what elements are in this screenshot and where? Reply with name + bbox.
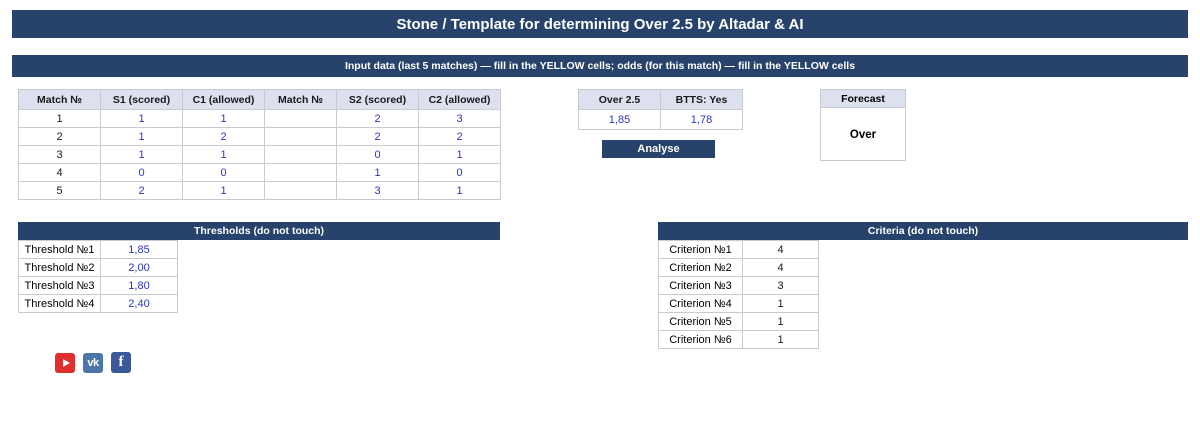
match-number-cell-away[interactable] — [265, 164, 337, 182]
facebook-icon-label: f — [119, 355, 124, 370]
table-row: 1,851,78 — [579, 110, 743, 130]
threshold-label: Threshold №2 — [19, 259, 101, 277]
table-header-row: Match №S1 (scored)C1 (allowed)Match №S2 … — [19, 90, 501, 110]
column-header: Match № — [19, 90, 101, 110]
table-row: 40010 — [19, 164, 501, 182]
criterion-value: 1 — [743, 313, 819, 331]
table-row: Criterion №51 — [659, 313, 819, 331]
match-number-cell: 3 — [19, 146, 101, 164]
editable-yellow-cell[interactable]: 0 — [337, 146, 419, 164]
column-header: Over 2.5 — [579, 90, 661, 110]
column-header: S2 (scored) — [337, 90, 419, 110]
threshold-value: 1,80 — [101, 277, 178, 295]
criterion-label: Criterion №3 — [659, 277, 743, 295]
editable-yellow-cell[interactable]: 1 — [419, 146, 501, 164]
table-row: 31101 — [19, 146, 501, 164]
youtube-icon[interactable] — [55, 353, 75, 373]
editable-yellow-cell[interactable]: 1 — [101, 128, 183, 146]
table-row: 21222 — [19, 128, 501, 146]
vk-icon-label: vk — [87, 357, 98, 369]
thresholds-section-title: Thresholds (do not touch) — [18, 222, 500, 240]
table-row: Criterion №33 — [659, 277, 819, 295]
editable-odds-cell[interactable]: 1,85 — [579, 110, 661, 130]
input-data-table: Match №S1 (scored)C1 (allowed)Match №S2 … — [18, 89, 501, 200]
column-header: BTTS: Yes — [661, 90, 743, 110]
match-number-cell-away[interactable] — [265, 128, 337, 146]
criteria-table: Criterion №14Criterion №24Criterion №33C… — [658, 240, 819, 349]
editable-yellow-cell[interactable]: 1 — [101, 146, 183, 164]
editable-yellow-cell[interactable]: 1 — [419, 182, 501, 200]
column-header: Match № — [265, 90, 337, 110]
editable-yellow-cell[interactable]: 1 — [337, 164, 419, 182]
editable-yellow-cell[interactable]: 2 — [337, 128, 419, 146]
criterion-value: 4 — [743, 241, 819, 259]
threshold-label: Threshold №3 — [19, 277, 101, 295]
editable-yellow-cell[interactable]: 0 — [101, 164, 183, 182]
table-row: Criterion №24 — [659, 259, 819, 277]
editable-yellow-cell[interactable]: 3 — [337, 182, 419, 200]
analyse-button[interactable]: Analyse — [602, 140, 715, 158]
editable-yellow-cell[interactable]: 2 — [101, 182, 183, 200]
match-number-cell: 1 — [19, 110, 101, 128]
instructions-bar: Input data (last 5 matches) — fill in th… — [12, 55, 1188, 77]
match-number-cell-away[interactable] — [265, 146, 337, 164]
match-number-cell: 2 — [19, 128, 101, 146]
forecast-box: Forecast Over — [820, 89, 906, 161]
play-triangle-icon — [63, 359, 70, 367]
vk-icon[interactable]: vk — [83, 353, 103, 373]
criterion-label: Criterion №5 — [659, 313, 743, 331]
editable-yellow-cell[interactable]: 0 — [183, 164, 265, 182]
column-header: C2 (allowed) — [419, 90, 501, 110]
column-header: C1 (allowed) — [183, 90, 265, 110]
criterion-value: 3 — [743, 277, 819, 295]
table-row: 11123 — [19, 110, 501, 128]
match-number-cell-away[interactable] — [265, 110, 337, 128]
editable-yellow-cell[interactable]: 2 — [183, 128, 265, 146]
page-title: Stone / Template for determining Over 2.… — [12, 10, 1188, 38]
forecast-header: Forecast — [821, 90, 905, 108]
threshold-label: Threshold №4 — [19, 295, 101, 313]
editable-odds-cell[interactable]: 1,78 — [661, 110, 743, 130]
criterion-value: 1 — [743, 331, 819, 349]
criterion-label: Criterion №6 — [659, 331, 743, 349]
table-row: 52131 — [19, 182, 501, 200]
threshold-value: 2,40 — [101, 295, 178, 313]
criterion-label: Criterion №4 — [659, 295, 743, 313]
threshold-label: Threshold №1 — [19, 241, 101, 259]
table-row: Threshold №31,80 — [19, 277, 178, 295]
editable-yellow-cell[interactable]: 0 — [419, 164, 501, 182]
criteria-section-title: Criteria (do not touch) — [658, 222, 1188, 240]
table-row: Threshold №42,40 — [19, 295, 178, 313]
thresholds-table: Threshold №11,85Threshold №22,00Threshol… — [18, 240, 178, 313]
table-row: Threshold №11,85 — [19, 241, 178, 259]
column-header: S1 (scored) — [101, 90, 183, 110]
table-row: Criterion №14 — [659, 241, 819, 259]
criterion-value: 1 — [743, 295, 819, 313]
table-row: Criterion №41 — [659, 295, 819, 313]
table-row: Criterion №61 — [659, 331, 819, 349]
editable-yellow-cell[interactable]: 3 — [419, 110, 501, 128]
facebook-icon[interactable]: f — [111, 352, 131, 373]
table-header-row: Over 2.5BTTS: Yes — [579, 90, 743, 110]
editable-yellow-cell[interactable]: 1 — [101, 110, 183, 128]
match-number-cell-away[interactable] — [265, 182, 337, 200]
criterion-label: Criterion №1 — [659, 241, 743, 259]
match-number-cell: 5 — [19, 182, 101, 200]
editable-yellow-cell[interactable]: 1 — [183, 182, 265, 200]
social-links: vk f — [55, 352, 131, 373]
editable-yellow-cell[interactable]: 2 — [419, 128, 501, 146]
match-number-cell: 4 — [19, 164, 101, 182]
odds-table: Over 2.5BTTS: Yes1,851,78 — [578, 89, 743, 130]
editable-yellow-cell[interactable]: 1 — [183, 110, 265, 128]
editable-yellow-cell[interactable]: 1 — [183, 146, 265, 164]
criterion-value: 4 — [743, 259, 819, 277]
threshold-value: 2,00 — [101, 259, 178, 277]
threshold-value: 1,85 — [101, 241, 178, 259]
table-row: Threshold №22,00 — [19, 259, 178, 277]
editable-yellow-cell[interactable]: 2 — [337, 110, 419, 128]
criterion-label: Criterion №2 — [659, 259, 743, 277]
forecast-value: Over — [821, 108, 905, 161]
